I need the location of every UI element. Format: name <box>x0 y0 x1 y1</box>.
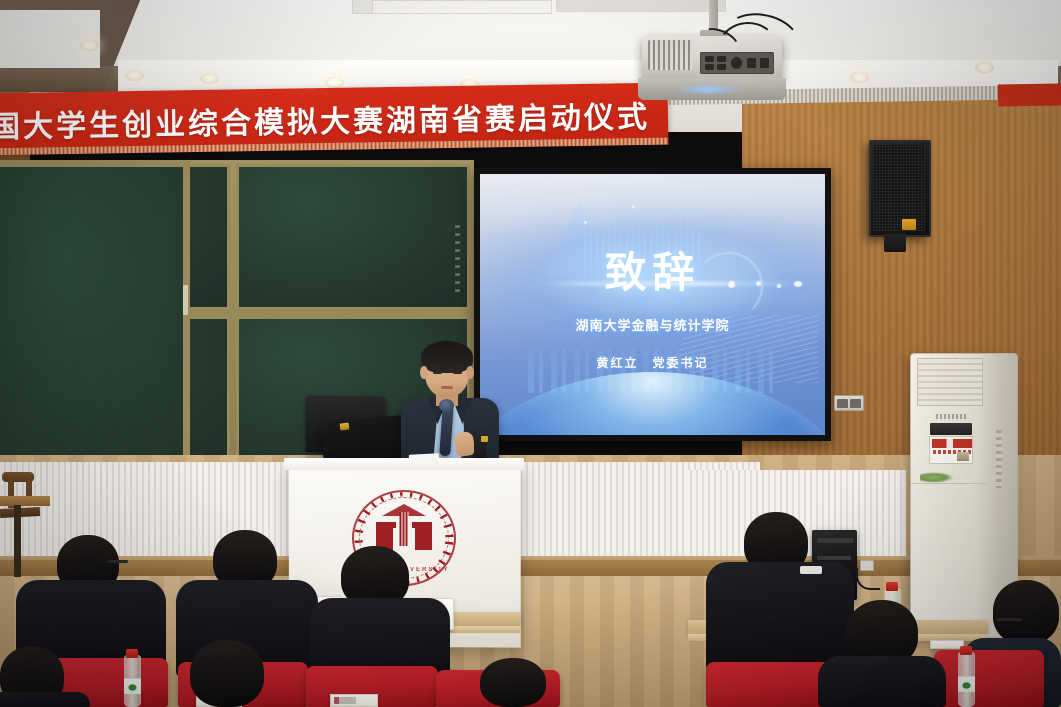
slide-title: 致辞 <box>480 239 825 300</box>
paper-on-desk <box>930 640 964 649</box>
air-conditioner-seam <box>911 483 987 484</box>
air-conditioner-brand <box>936 414 966 419</box>
outlet-socket-icon <box>837 399 848 408</box>
slide-wash <box>480 174 825 435</box>
wall-power-outlet[interactable] <box>834 395 864 411</box>
event-banner: 杠” 全国大学生创业综合模拟大赛湖南省赛启动仪式 <box>0 83 668 156</box>
downlight-icon <box>125 70 144 81</box>
bottle-cap <box>960 646 972 655</box>
bottle-leaf-logo <box>128 684 137 691</box>
bottle-cap <box>126 649 138 658</box>
presenter-ear <box>420 366 428 379</box>
projector-lens-glow <box>676 86 742 93</box>
podium-top <box>284 458 524 470</box>
outlet-socket-icon <box>850 399 861 408</box>
bottle-cap <box>886 582 898 591</box>
air-conditioner-sticker <box>929 436 973 464</box>
ceiling-recess-2 <box>556 0 726 12</box>
slide-presenter: 黄红立 党委书记 <box>480 354 825 371</box>
presenter-mouth <box>441 386 453 389</box>
microphone-head-icon <box>439 399 454 412</box>
presenter-hair <box>421 341 473 373</box>
side-table <box>0 496 50 506</box>
audience-chair[interactable] <box>934 650 1044 707</box>
lecture-hall-scene: 杠” 全国大学生创业综合模拟大赛湖南省赛启动仪式 <box>0 0 1061 707</box>
chalkboard-magnet-strip <box>455 225 460 297</box>
name-placard <box>330 694 378 707</box>
projection-screen: 致辞 湖南大学金融与统计学院 黄红立 党委书记 <box>474 168 831 441</box>
air-conditioner-side-vent <box>996 430 1002 488</box>
downlight-icon <box>850 72 869 83</box>
downlight-icon <box>200 73 219 84</box>
downlight-icon <box>80 40 99 51</box>
chalk-piece <box>183 285 188 315</box>
downlight-icon <box>325 77 344 88</box>
presenter-ear <box>466 366 474 379</box>
air-conditioner-logo <box>920 472 954 483</box>
ceiling-recess-3 <box>372 0 552 14</box>
bag-buckle-icon <box>340 422 350 430</box>
side-table-leg <box>14 505 21 577</box>
presenter-eye <box>433 371 442 374</box>
emblem-column <box>400 512 409 546</box>
podium-paper <box>409 453 440 466</box>
projector-vent <box>648 40 692 70</box>
ceiling-soffit-left <box>0 10 100 68</box>
banner-text: 杠” 全国大学生创业综合模拟大赛湖南省赛启动仪式 <box>0 92 668 148</box>
air-conditioner-display <box>930 423 972 435</box>
stage-edge <box>0 560 1061 576</box>
presenter-eyebrow <box>452 365 464 368</box>
air-conditioner-louvers <box>917 358 983 406</box>
chalkboard-left-section <box>0 160 190 465</box>
projection-screen-surface: 致辞 湖南大学金融与统计学院 黄红立 党委书记 <box>480 174 825 435</box>
wall-speaker-grill <box>873 145 925 231</box>
wall-speaker-bracket <box>884 234 906 252</box>
downlight-icon <box>975 62 994 73</box>
microphone-stand-badge <box>481 436 488 442</box>
presenter-eye <box>453 371 462 374</box>
chalkboard-panel-top-right <box>236 164 470 310</box>
presenter-eyebrow <box>431 365 443 368</box>
presenter-hand <box>453 431 475 457</box>
placard-logo <box>334 697 356 704</box>
banner-right-tail <box>998 83 1061 106</box>
bottle-leaf-logo <box>962 682 971 689</box>
slide-organization: 湖南大学金融与统计学院 <box>480 315 825 334</box>
wall-speaker-badge <box>902 219 916 230</box>
